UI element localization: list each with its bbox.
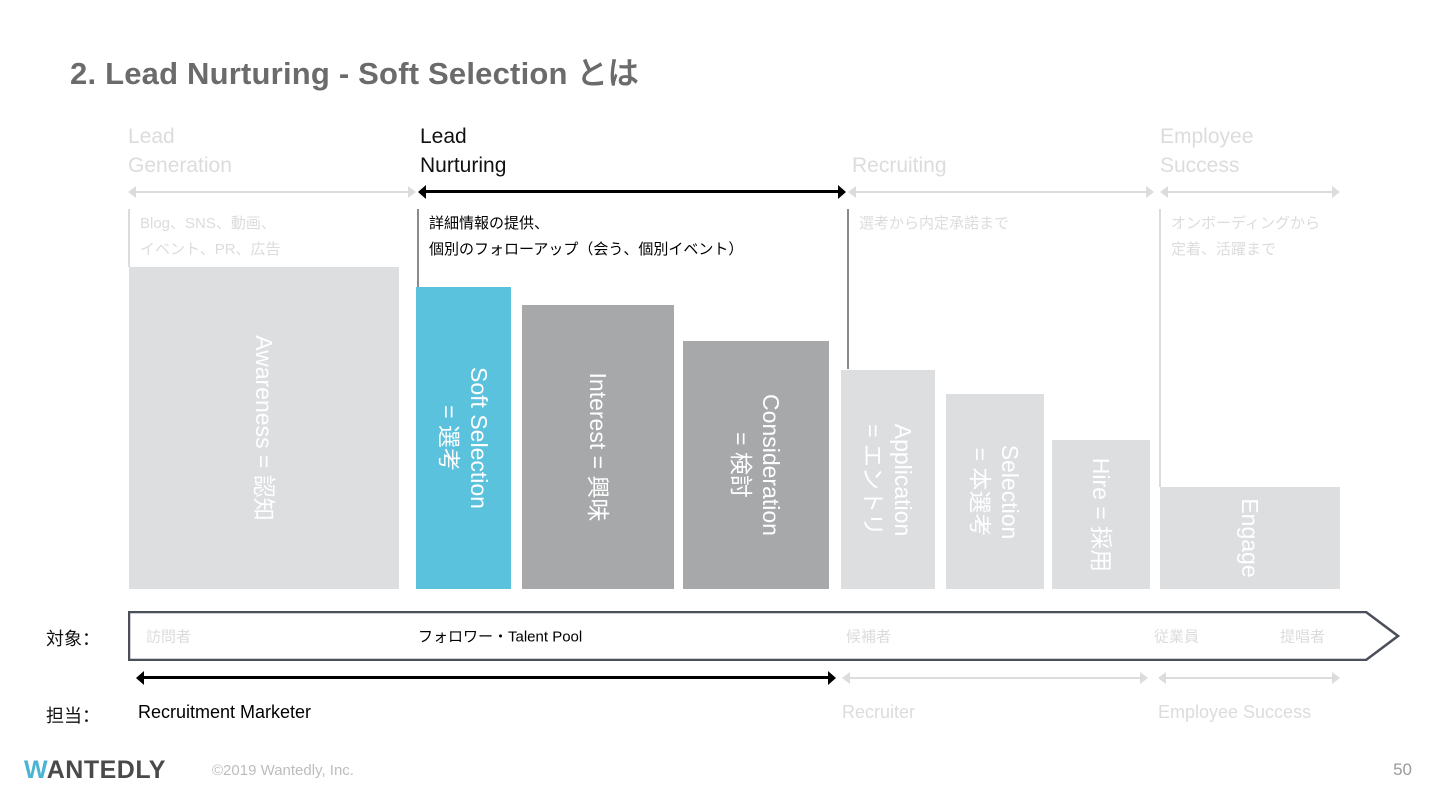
funnel-bar-consideration: Consideration = 検討: [683, 341, 829, 589]
funnel-bar-label: Engage: [1235, 498, 1265, 577]
funnel-bar-label: Selection = 本選考: [965, 444, 1025, 539]
owner-item-recruitment-marketer: Recruitment Marketer: [138, 702, 311, 723]
phase-arrow-lead-generation: [128, 185, 416, 199]
owner-arrow-recruiter: [842, 671, 1148, 685]
phase-desc-lead-nurturing: 詳細情報の提供、 個別のフォローアップ（会う、個別イベント）: [417, 211, 859, 263]
arrow-right-tip-icon: [1146, 186, 1154, 198]
page-number: 50: [1393, 760, 1412, 780]
phase-title-lead-nurturing: Lead Nurturing: [420, 122, 720, 180]
arrow-shaft: [855, 191, 1147, 193]
arrow-shaft: [1167, 191, 1333, 193]
funnel-bar-label: Consideration = 検討: [726, 394, 786, 536]
arrow-right-tip-icon: [1332, 186, 1340, 198]
logo-wordmark: ANTEDLY: [47, 756, 166, 784]
phase-arrow-employee-success: [1160, 185, 1340, 199]
logo-w-mark: W: [24, 756, 47, 784]
funnel-bar-engage: Engage: [1160, 487, 1340, 589]
funnel-bar-label: Hire = 採用: [1086, 457, 1116, 571]
arrow-shaft: [849, 677, 1141, 679]
owner-arrow-employee-success: [1158, 671, 1340, 685]
arrow-shaft: [425, 190, 839, 193]
arrow-shaft: [135, 191, 409, 193]
arrow-right-tip-icon: [1140, 672, 1148, 684]
funnel-bar-selection: Selection = 本選考: [946, 394, 1044, 589]
target-item-employees: 従業員: [1154, 626, 1199, 647]
phase-title-lead-generation: Lead Generation: [128, 122, 408, 180]
funnel-bar-hire: Hire = 採用: [1052, 440, 1150, 589]
arrow-right-tip-icon: [838, 185, 846, 199]
arrow-right-tip-icon: [828, 671, 836, 685]
phase-title-employee-success: Employee Success: [1160, 122, 1440, 180]
target-banner: 訪問者 フォロワー・Talent Pool 候補者 従業員 提唱者: [128, 611, 1400, 661]
target-item-advocates: 提唱者: [1280, 626, 1325, 647]
target-item-talent-pool: フォロワー・Talent Pool: [418, 626, 582, 647]
funnel-bar-awareness: Awareness = 認知: [129, 267, 399, 589]
owner-row-label: 担当：: [46, 702, 100, 728]
owner-item-recruiter: Recruiter: [842, 702, 915, 723]
funnel-bar-application: Application = エントリ: [841, 370, 935, 589]
arrow-shaft: [143, 676, 829, 679]
slide-canvas: 2. Lead Nurturing - Soft Selection とは Le…: [0, 0, 1440, 810]
phase-desc-recruiting: 選考から内定承諾まで: [847, 211, 1169, 237]
page-title: 2. Lead Nurturing - Soft Selection とは: [70, 48, 639, 93]
target-item-candidates: 候補者: [846, 626, 891, 647]
funnel-bar-interest: Interest = 興味: [522, 305, 674, 589]
funnel-bar-label: Application = エントリ: [858, 423, 918, 536]
target-row-label: 対象：: [46, 625, 100, 651]
arrow-right-tip-icon: [1332, 672, 1340, 684]
owner-arrow-recruitment-marketer: [136, 671, 836, 685]
phase-arrow-lead-nurturing: [418, 185, 846, 199]
arrow-shaft: [1165, 677, 1333, 679]
wantedly-logo: WANTEDLY: [24, 756, 166, 785]
banner-shape-icon: [128, 611, 1400, 661]
phase-arrow-recruiting: [848, 185, 1154, 199]
target-item-visitors: 訪問者: [146, 626, 191, 647]
phase-title-recruiting: Recruiting: [852, 151, 1152, 180]
phase-desc-employee-success: オンボーディングから 定着、活躍まで: [1159, 211, 1411, 263]
funnel-bar-label: Awareness = 認知: [249, 335, 279, 521]
owner-item-employee-success: Employee Success: [1158, 702, 1311, 723]
funnel-bar-label: Soft Selection = 選考: [434, 367, 494, 509]
funnel-bar-label: Interest = 興味: [583, 373, 613, 522]
funnel-bar-soft-selection: Soft Selection = 選考: [416, 287, 511, 589]
phase-desc-lead-generation: Blog、SNS、動画、 イベント、PR、広告: [128, 211, 420, 263]
arrow-right-tip-icon: [408, 186, 416, 198]
copyright-text: ©2019 Wantedly, Inc.: [212, 762, 354, 779]
